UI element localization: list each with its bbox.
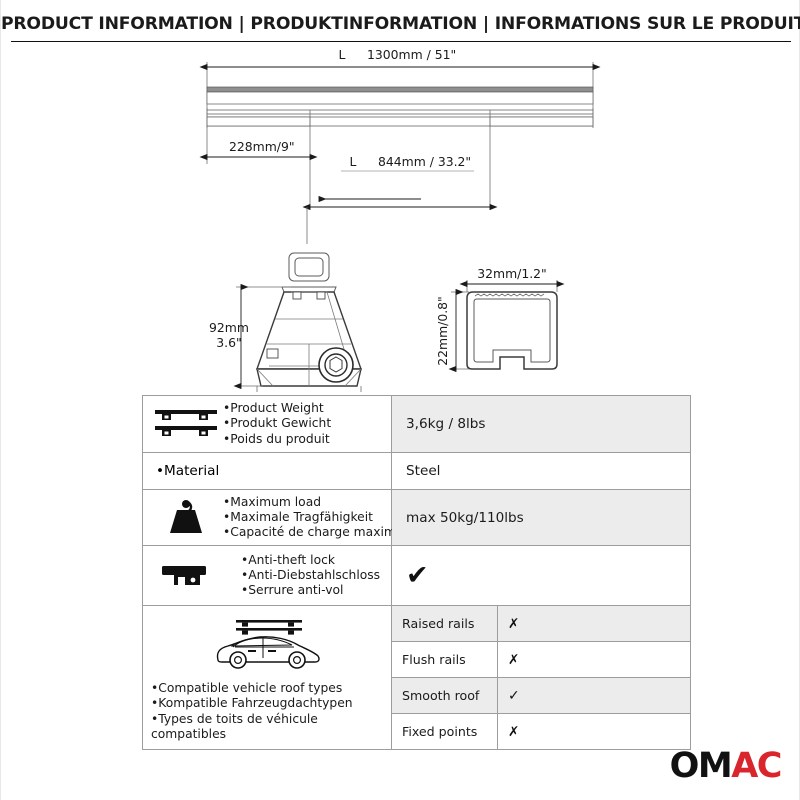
specifications-table: •Product Weight •Produkt Gewicht •Poids …: [142, 395, 691, 750]
spread-symbol: L: [350, 154, 357, 169]
table-row: •Maximum load •Maximale Tragfähigkeit •C…: [143, 490, 690, 546]
lock-icon: [149, 561, 223, 591]
profile-height-value: 22mm/0.8": [435, 296, 450, 366]
weight-icon: [149, 499, 223, 537]
roof-type-mark: ✗: [498, 642, 690, 677]
label-de: •Produkt Gewicht: [223, 416, 331, 431]
label-fr: •Serrure anti-vol: [241, 583, 380, 598]
roof-type-mark: ✗: [498, 714, 690, 749]
crossbar-side-view: [207, 108, 593, 128]
label-fr: •Types de toits de véhicule compatibles: [151, 712, 383, 743]
product-information-sheet: PRODUCT INFORMATION | PRODUKTINFORMATION…: [0, 0, 800, 800]
spec-value-lock: ✔: [392, 546, 690, 605]
omac-logo: OMAC: [670, 749, 781, 784]
logo-text-om: OM: [670, 746, 732, 786]
roof-type-name: Raised rails: [392, 606, 498, 641]
list-item: Raised rails ✗: [392, 606, 690, 642]
roof-type-name: Smooth roof: [392, 678, 498, 713]
label-fr: •Capacité de charge maximale: [223, 525, 414, 540]
spec-label-cell: •Material: [143, 453, 392, 489]
label-material: •Material: [156, 463, 219, 479]
technical-drawing: L 1300mm / 51" 228mm/9" L 844mm / 33.2" …: [1, 44, 800, 392]
spec-label-text: •Product Weight •Produkt Gewicht •Poids …: [223, 401, 331, 447]
car-with-rack-icon: [208, 614, 326, 676]
roof-type-name: Fixed points: [392, 714, 498, 749]
foot-height-value-line1: 92mm: [209, 320, 249, 335]
spec-label-text: •Maximum load •Maximale Tragfähigkeit •C…: [223, 495, 414, 541]
label-en: •Compatible vehicle roof types: [151, 681, 383, 696]
spec-label-cell: •Anti-theft lock •Anti-Diebstahlschloss …: [143, 546, 392, 605]
overall-length-value: 1300mm / 51": [367, 47, 456, 62]
header-divider: [11, 41, 791, 42]
rail-profile-cross-section: [451, 280, 557, 369]
two-crossbars-icon: [149, 407, 223, 441]
spec-label-text: •Compatible vehicle roof types •Kompatib…: [151, 681, 383, 743]
roof-type-name: Flush rails: [392, 642, 498, 677]
spec-value-weight: 3,6kg / 8lbs: [392, 396, 690, 452]
table-row: •Compatible vehicle roof types •Kompatib…: [143, 606, 690, 749]
checkmark-icon: ✔: [406, 562, 429, 589]
foot-height-value-line2: 3.6": [216, 335, 241, 350]
spec-value-maxload: max 50kg/110lbs: [392, 490, 690, 545]
list-item: Smooth roof ✓: [392, 678, 690, 714]
logo-text-ac: AC: [731, 746, 781, 786]
label-de: •Maximale Tragfähigkeit: [223, 510, 414, 525]
spec-label-text: •Anti-theft lock •Anti-Diebstahlschloss …: [241, 553, 380, 599]
roof-type-mark: ✓: [498, 678, 690, 713]
spec-label-cell: •Compatible vehicle roof types •Kompatib…: [143, 606, 392, 749]
list-item: Flush rails ✗: [392, 642, 690, 678]
page-title: PRODUCT INFORMATION | PRODUKTINFORMATION…: [1, 14, 800, 34]
list-item: Fixed points ✗: [392, 714, 690, 749]
spread-dimension: [307, 110, 490, 244]
label-en: •Product Weight: [223, 401, 331, 416]
table-row: •Material Steel: [143, 453, 690, 490]
overall-length-symbol: L: [339, 47, 346, 62]
spec-value-material: Steel: [392, 453, 690, 489]
crossbar-top-view: [207, 87, 593, 104]
spec-label-cell: •Maximum load •Maximale Tragfähigkeit •C…: [143, 490, 392, 545]
label-fr: •Poids du produit: [223, 432, 331, 447]
roof-type-mark: ✗: [498, 606, 690, 641]
spread-value: 844mm / 33.2": [378, 154, 471, 169]
table-row: •Anti-theft lock •Anti-Diebstahlschloss …: [143, 546, 690, 606]
foot-width-dimension: [257, 386, 361, 392]
foot-front-view: [257, 253, 361, 386]
spec-label-cell: •Product Weight •Produkt Gewicht •Poids …: [143, 396, 392, 452]
label-de: •Kompatible Fahrzeugdachtypen: [151, 696, 383, 711]
label-en: •Anti-theft lock: [241, 553, 380, 568]
label-en: •Maximum load: [223, 495, 414, 510]
label-de: •Anti-Diebstahlschloss: [241, 568, 380, 583]
table-row: •Product Weight •Produkt Gewicht •Poids …: [143, 396, 690, 453]
end-offset-value: 228mm/9": [229, 139, 295, 154]
roof-type-options-list: Raised rails ✗ Flush rails ✗ Smooth roof…: [392, 606, 690, 749]
profile-width-value: 32mm/1.2": [477, 266, 547, 281]
